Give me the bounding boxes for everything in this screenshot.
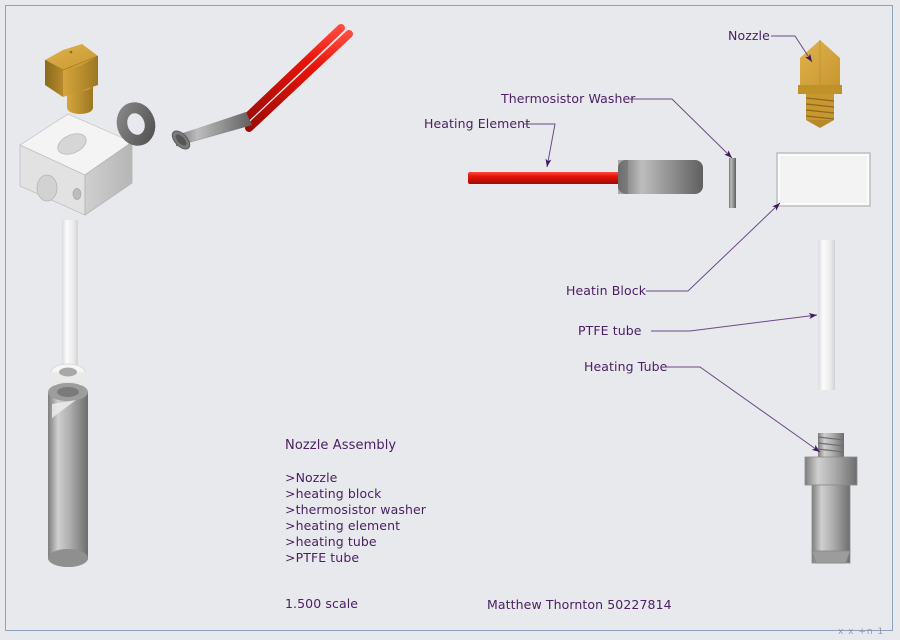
callout-label-heatin-block: Heatin Block <box>566 283 646 299</box>
parts-list-item: >heating block <box>285 486 382 502</box>
drawing-sheet: Nozzle Thermosistor Washer Heating Eleme… <box>0 0 900 640</box>
callout-label-thermosistor-washer: Thermosistor Washer <box>501 91 636 107</box>
parts-list-item: >PTFE tube <box>285 550 359 566</box>
parts-list-item: >heating tube <box>285 534 377 550</box>
scale-note: 1.500 scale <box>285 596 358 612</box>
footer-cutoff-text: x x +n 1 <box>838 627 884 636</box>
parts-list-item: >heating element <box>285 518 400 534</box>
drawing-frame <box>5 5 893 631</box>
callout-label-ptfe-tube: PTFE tube <box>578 323 642 339</box>
parts-list-item: >thermosistor washer <box>285 502 426 518</box>
callout-label-nozzle: Nozzle <box>728 28 770 44</box>
callout-label-heating-element: Heating Element <box>424 116 530 132</box>
assembly-title: Nozzle Assembly <box>285 438 396 454</box>
parts-list-item: >Nozzle <box>285 470 337 486</box>
callout-label-heating-tube: Heating Tube <box>584 359 667 375</box>
author-note: Matthew Thornton 50227814 <box>487 597 672 613</box>
